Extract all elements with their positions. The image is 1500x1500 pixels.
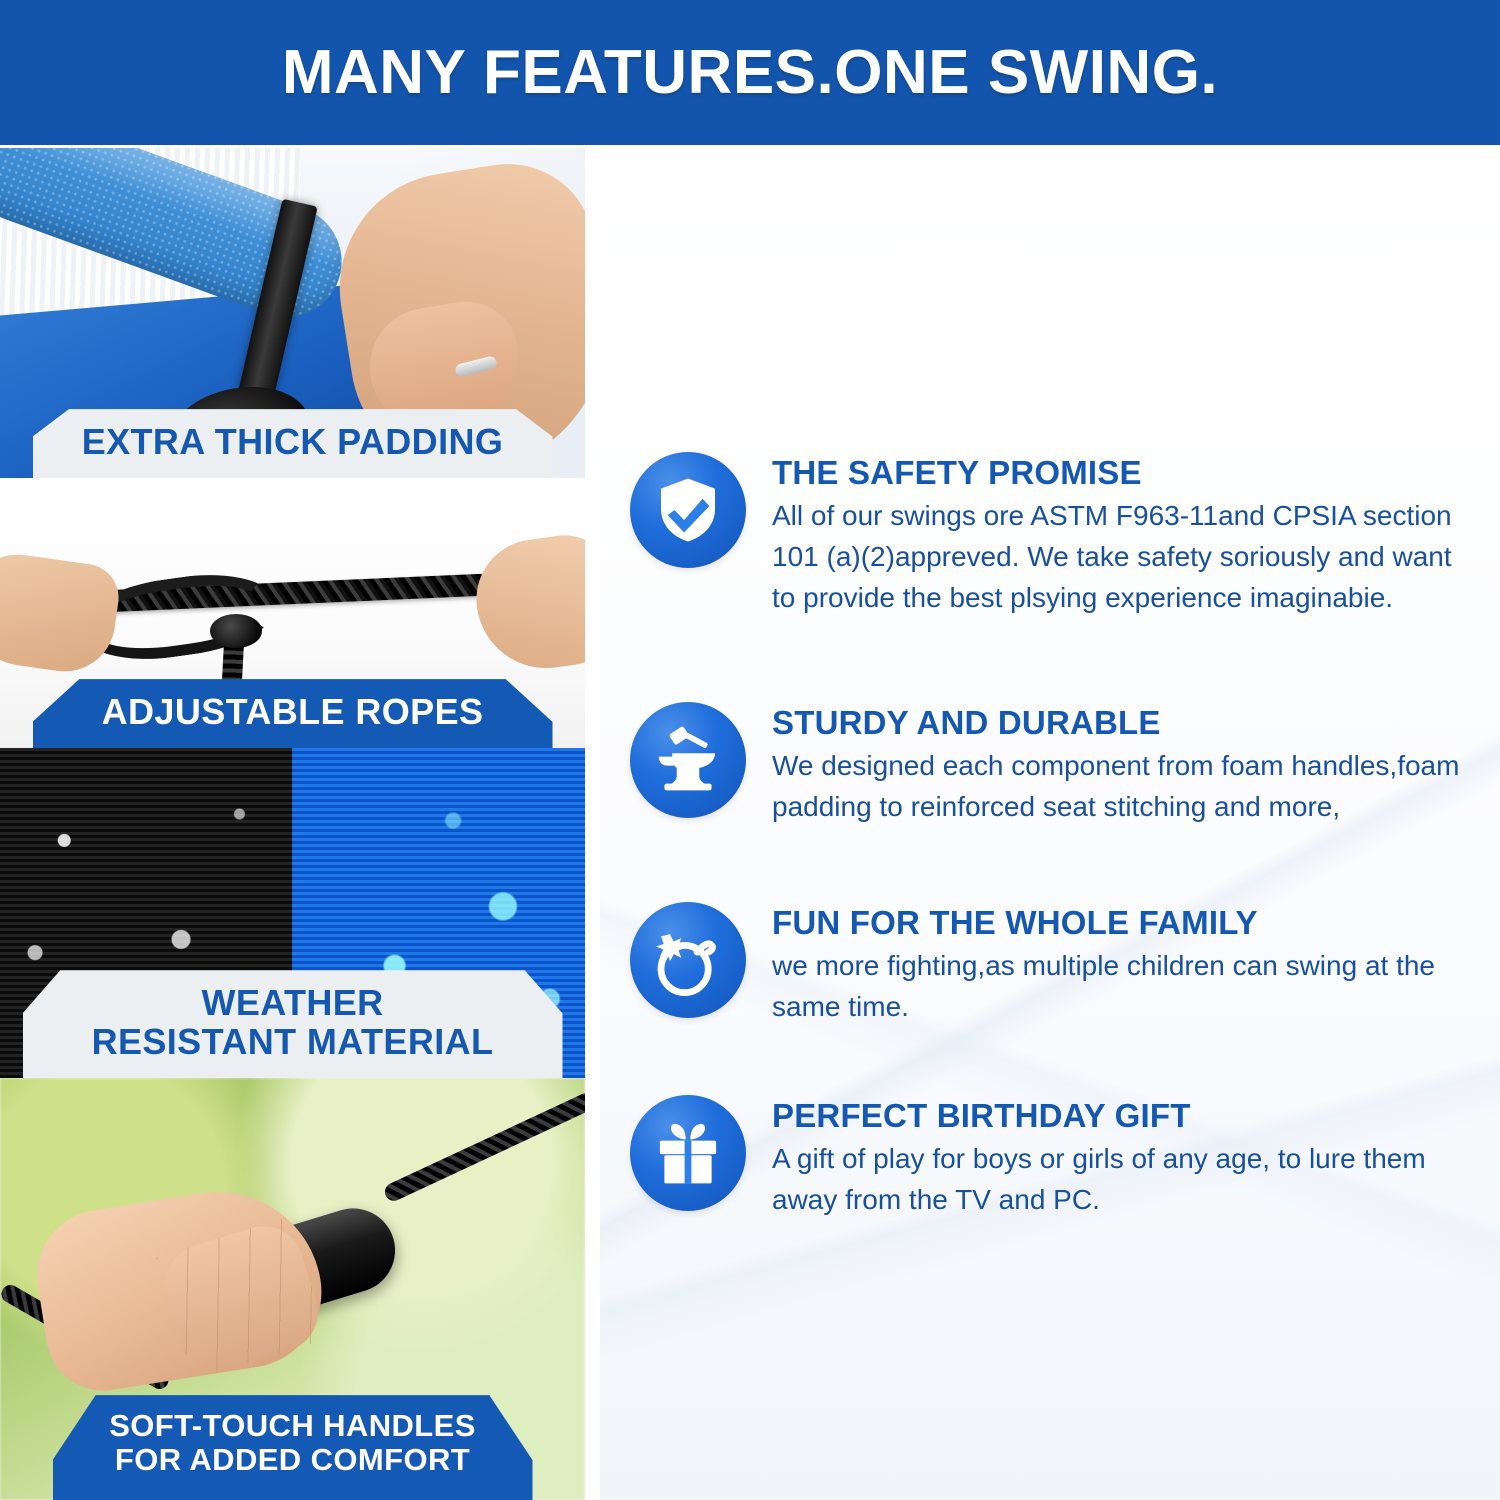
label-text-line1: WEATHER (53, 984, 533, 1023)
photo-adjustable-ropes: ADJUSTABLE ROPES (0, 478, 585, 748)
shield-check-icon (630, 452, 746, 568)
label-text-line1: SOFT-TOUCH HANDLES (83, 1409, 503, 1442)
label-adjustable-ropes: ADJUSTABLE ROPES (33, 679, 553, 748)
feature-sturdy-and-durable: STURDY AND DURABLE We designed each comp… (630, 702, 1480, 828)
feature-title: STURDY AND DURABLE (772, 704, 1462, 742)
label-text: EXTRA THICK PADDING (63, 423, 523, 462)
features-panel: THE SAFETY PROMISE All of our swings ore… (600, 150, 1500, 1500)
feature-perfect-birthday-gift: PERFECT BIRTHDAY GIFT A gift of play for… (630, 1095, 1480, 1221)
photo-extra-thick-padding: EXTRA THICK PADDING (0, 148, 585, 478)
label-weather-resistant-material: WEATHER RESISTANT MATERIAL (23, 970, 563, 1078)
feature-title: THE SAFETY PROMISE (772, 454, 1462, 492)
photo-weather-resistant-material: WEATHER RESISTANT MATERIAL (0, 748, 585, 1078)
feature-body: we more fighting,as multiple children ca… (772, 946, 1462, 1028)
header-banner: MANY FEATURES.ONE SWING. (0, 0, 1500, 145)
feature-the-safety-promise: THE SAFETY PROMISE All of our swings ore… (630, 452, 1480, 619)
label-soft-touch-handles: SOFT-TOUCH HANDLES FOR ADDED COMFORT (53, 1395, 533, 1500)
label-text-line2: RESISTANT MATERIAL (53, 1023, 533, 1062)
photo-soft-touch-handles: SOFT-TOUCH HANDLES FOR ADDED COMFORT (0, 1078, 585, 1500)
label-extra-thick-padding: EXTRA THICK PADDING (33, 409, 553, 478)
label-text: ADJUSTABLE ROPES (63, 693, 523, 732)
feature-text-block: THE SAFETY PROMISE All of our swings ore… (772, 452, 1462, 619)
label-text-line2: FOR ADDED COMFORT (83, 1443, 503, 1476)
anvil-hammer-icon (630, 702, 746, 818)
feature-body: A gift of play for boys or girls of any … (772, 1139, 1462, 1221)
feature-title: FUN FOR THE WHOLE FAMILY (772, 904, 1462, 942)
feature-body: All of our swings ore ASTM F963-11and CP… (772, 496, 1462, 619)
feature-text-block: STURDY AND DURABLE We designed each comp… (772, 702, 1462, 828)
ropes-photo-knot (210, 614, 262, 648)
infographic-page: MANY FEATURES.ONE SWING. EXTRA THICK PAD… (0, 0, 1500, 1500)
feature-text-block: FUN FOR THE WHOLE FAMILY we more fightin… (772, 902, 1462, 1028)
page-title: MANY FEATURES.ONE SWING. (282, 37, 1218, 108)
gift-icon (630, 1095, 746, 1211)
photo-column: EXTRA THICK PADDING ADJUSTABLE ROPES WEA… (0, 148, 585, 1500)
feature-text-block: PERFECT BIRTHDAY GIFT A gift of play for… (772, 1095, 1462, 1221)
feature-body: We designed each component from foam han… (772, 746, 1462, 828)
feature-fun-for-the-whole-family: FUN FOR THE WHOLE FAMILY we more fightin… (630, 902, 1480, 1028)
bomb-icon (630, 902, 746, 1018)
feature-title: PERFECT BIRTHDAY GIFT (772, 1097, 1462, 1135)
